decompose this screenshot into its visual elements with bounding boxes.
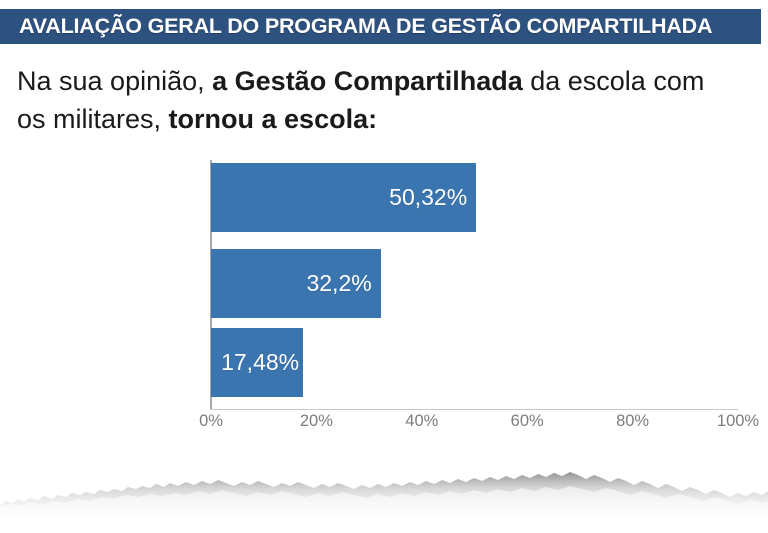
x-tick-label: 80% xyxy=(616,412,649,431)
question-emphasis-gestao-compartilhada: a Gestão Compartilhada xyxy=(212,66,523,96)
bar-value-label: 50,32% xyxy=(389,184,476,211)
x-tick-label: 100% xyxy=(717,412,759,431)
bar-value-label: 17,48% xyxy=(217,349,303,376)
torn-paper-edge xyxy=(0,453,768,533)
x-axis-tick-labels: 0% 20% 40% 60% 80% 100% xyxy=(0,412,768,438)
value-axis-line xyxy=(210,409,738,410)
question-text-part1: Na sua opinião, xyxy=(17,66,212,96)
x-tick-label: 0% xyxy=(199,412,223,431)
page-title: AVALIAÇÃO GERAL DO PROGRAMA DE GESTÃO CO… xyxy=(0,14,712,39)
header-banner: AVALIAÇÃO GERAL DO PROGRAMA DE GESTÃO CO… xyxy=(0,9,761,44)
x-tick-label: 40% xyxy=(405,412,438,431)
bar-rect[interactable]: 17,48% xyxy=(211,328,303,397)
bar-chart: Um lugar melhor para estudar 50,32% Não … xyxy=(0,150,768,440)
x-tick-label: 60% xyxy=(511,412,544,431)
question-emphasis-tornou-a-escola: tornou a escola: xyxy=(169,104,378,134)
question-heading: Na sua opinião, a Gestão Compartilhada d… xyxy=(17,62,737,138)
bar-rect[interactable]: 50,32% xyxy=(211,163,476,232)
bar-rect[interactable]: 32,2% xyxy=(211,249,381,318)
x-tick-label: 20% xyxy=(300,412,333,431)
bar-value-label: 32,2% xyxy=(306,270,380,297)
